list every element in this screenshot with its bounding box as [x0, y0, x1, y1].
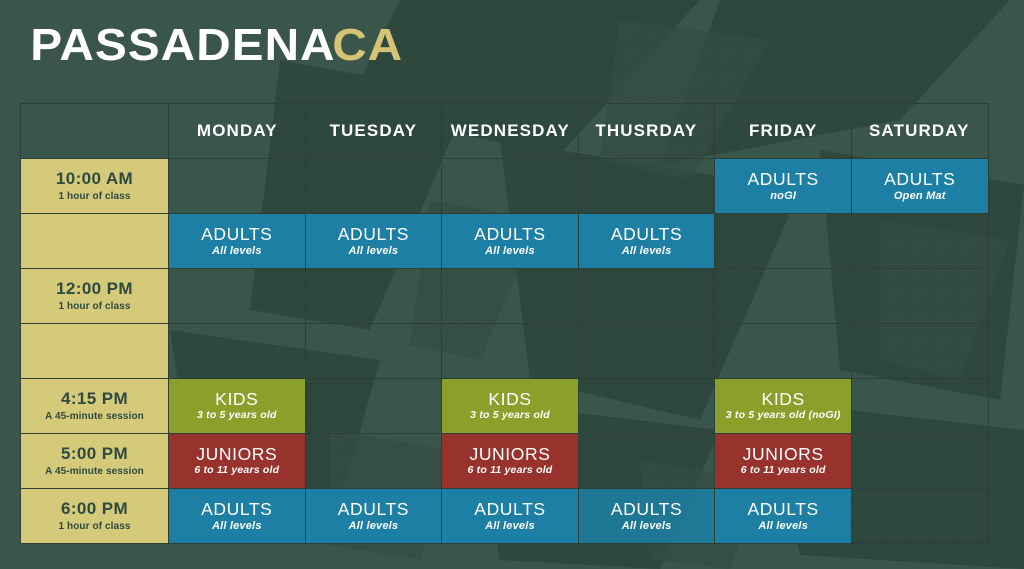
- title-city: PASSADENA: [30, 22, 336, 67]
- time-slot-duration: A 45-minute session: [21, 411, 168, 422]
- schedule-cell-empty: [169, 324, 306, 379]
- time-slot-cell: 10:00 AM1 hour of class: [21, 159, 169, 214]
- schedule-page: PASSADENA CA MONDAY TUESDAY WEDNESDAY TH…: [0, 0, 1024, 569]
- class-detail: All levels: [442, 520, 578, 532]
- schedule-cell-empty: [851, 269, 988, 324]
- class-detail: All levels: [306, 245, 442, 257]
- schedule-cell-empty: [305, 324, 442, 379]
- class-detail: All levels: [579, 520, 715, 532]
- time-slot-duration: 1 hour of class: [21, 521, 168, 532]
- table-row: 10:00 AM1 hour of classADULTSnoGIADULTSO…: [21, 159, 989, 214]
- schedule-cell-empty: [578, 269, 715, 324]
- class-name: ADULTS: [715, 500, 851, 519]
- day-header-tuesday: TUESDAY: [303, 104, 444, 159]
- time-slot-duration: 1 hour of class: [21, 191, 168, 202]
- schedule-cell-class[interactable]: ADULTSOpen Mat: [851, 159, 988, 214]
- time-slot-label: 6:00 PM: [21, 500, 168, 519]
- schedule-cell-class[interactable]: ADULTSAll levels: [442, 489, 579, 544]
- schedule-cell-empty: [715, 214, 852, 269]
- schedule-cell-empty: [305, 269, 442, 324]
- day-header-friday: FRIDAY: [713, 104, 854, 159]
- class-name: ADULTS: [715, 170, 851, 189]
- class-detail: 6 to 11 years old: [442, 465, 578, 477]
- class-detail: All levels: [306, 520, 442, 532]
- class-name: ADULTS: [579, 225, 715, 244]
- schedule-cell-class[interactable]: ADULTSnoGI: [715, 159, 852, 214]
- class-schedule-table: MONDAY TUESDAY WEDNESDAY THUSRDAY FRIDAY…: [20, 103, 989, 544]
- schedule-cell-class[interactable]: JUNIORS6 to 11 years old: [442, 434, 579, 489]
- time-slot-cell: [21, 324, 169, 379]
- time-slot-cell: 6:00 PM1 hour of class: [21, 489, 169, 544]
- day-header-monday: MONDAY: [166, 104, 307, 159]
- schedule-cell-class[interactable]: ADULTSAll levels: [578, 214, 715, 269]
- day-header-wednesday: WEDNESDAY: [440, 104, 581, 159]
- schedule-cell-class[interactable]: ADULTSAll levels: [715, 489, 852, 544]
- class-detail: 3 to 5 years old: [169, 410, 305, 422]
- table-header: MONDAY TUESDAY WEDNESDAY THUSRDAY FRIDAY…: [21, 104, 989, 159]
- time-slot-duration: A 45-minute session: [21, 466, 168, 477]
- schedule-cell-empty: [851, 434, 988, 489]
- class-detail: 3 to 5 years old (noGI): [715, 410, 851, 422]
- class-detail: noGI: [715, 190, 851, 202]
- schedule-cell-empty: [169, 269, 306, 324]
- class-name: JUNIORS: [715, 445, 851, 464]
- class-name: JUNIORS: [442, 445, 578, 464]
- class-name: JUNIORS: [169, 445, 305, 464]
- class-name: ADULTS: [169, 225, 305, 244]
- schedule-cell-empty: [851, 379, 988, 434]
- class-detail: 3 to 5 years old: [442, 410, 578, 422]
- table-row: 4:15 PMA 45-minute sessionKIDS3 to 5 yea…: [21, 379, 989, 434]
- schedule-cell-class[interactable]: KIDS3 to 5 years old (noGI): [715, 379, 852, 434]
- table-body: 10:00 AM1 hour of classADULTSnoGIADULTSO…: [21, 159, 989, 544]
- schedule-cell-class[interactable]: KIDS3 to 5 years old: [442, 379, 579, 434]
- schedule-cell-empty: [305, 379, 442, 434]
- class-name: ADULTS: [442, 225, 578, 244]
- title-state: CA: [332, 22, 403, 67]
- class-name: ADULTS: [306, 500, 442, 519]
- time-slot-cell: 12:00 PM1 hour of class: [21, 269, 169, 324]
- class-name: ADULTS: [169, 500, 305, 519]
- time-slot-cell: 5:00 PMA 45-minute session: [21, 434, 169, 489]
- table-row: 6:00 PM1 hour of classADULTSAll levelsAD…: [21, 489, 989, 544]
- time-slot-duration: 1 hour of class: [21, 301, 168, 312]
- table-row: 5:00 PMA 45-minute sessionJUNIORS6 to 11…: [21, 434, 989, 489]
- schedule-cell-class[interactable]: JUNIORS6 to 11 years old: [715, 434, 852, 489]
- class-name: ADULTS: [579, 500, 715, 519]
- table-row: [21, 324, 989, 379]
- schedule-cell-class[interactable]: ADULTSAll levels: [442, 214, 579, 269]
- time-slot-label: 5:00 PM: [21, 445, 168, 464]
- schedule-cell-empty: [578, 159, 715, 214]
- class-detail: All levels: [169, 245, 305, 257]
- schedule-cell-empty: [305, 434, 442, 489]
- class-detail: Open Mat: [852, 190, 988, 202]
- day-header-saturday: SATURDAY: [849, 104, 990, 159]
- time-slot-label: 4:15 PM: [21, 390, 168, 409]
- schedule-cell-empty: [715, 269, 852, 324]
- class-name: ADULTS: [306, 225, 442, 244]
- class-detail: 6 to 11 years old: [169, 465, 305, 477]
- class-detail: All levels: [715, 520, 851, 532]
- schedule-cell-class[interactable]: KIDS3 to 5 years old: [169, 379, 306, 434]
- table-row: ADULTSAll levelsADULTSAll levelsADULTSAl…: [21, 214, 989, 269]
- schedule-cell-class[interactable]: ADULTSAll levels: [305, 214, 442, 269]
- time-slot-label: 10:00 AM: [21, 170, 168, 189]
- class-name: ADULTS: [442, 500, 578, 519]
- page-title: PASSADENA CA: [30, 22, 399, 67]
- time-slot-cell: 4:15 PMA 45-minute session: [21, 379, 169, 434]
- class-detail: All levels: [442, 245, 578, 257]
- schedule-cell-empty: [578, 434, 715, 489]
- schedule-cell-empty: [169, 159, 306, 214]
- day-header-thursday: THUSRDAY: [576, 104, 717, 159]
- schedule-cell-empty: [442, 269, 579, 324]
- schedule-cell-empty: [851, 489, 988, 544]
- class-name: ADULTS: [852, 170, 988, 189]
- time-slot-label: 12:00 PM: [21, 280, 168, 299]
- schedule-cell-empty: [305, 159, 442, 214]
- class-name: KIDS: [442, 390, 578, 409]
- schedule-cell-empty: [442, 324, 579, 379]
- class-name: KIDS: [169, 390, 305, 409]
- corner-cell: [21, 104, 169, 159]
- class-detail: All levels: [169, 520, 305, 532]
- schedule-cell-class[interactable]: JUNIORS6 to 11 years old: [169, 434, 306, 489]
- schedule-cell-class[interactable]: ADULTSAll levels: [305, 489, 442, 544]
- class-name: KIDS: [715, 390, 851, 409]
- class-detail: All levels: [579, 245, 715, 257]
- schedule-cell-empty: [851, 324, 988, 379]
- schedule-cell-empty: [578, 379, 715, 434]
- class-detail: 6 to 11 years old: [715, 465, 851, 477]
- schedule-cell-class[interactable]: ADULTSAll levels: [578, 489, 715, 544]
- schedule-cell-empty: [851, 214, 988, 269]
- schedule-cell-class[interactable]: ADULTSAll levels: [169, 489, 306, 544]
- schedule-cell-empty: [715, 324, 852, 379]
- schedule-cell-class[interactable]: ADULTSAll levels: [169, 214, 306, 269]
- time-slot-cell: [21, 214, 169, 269]
- schedule-cell-empty: [442, 159, 579, 214]
- header-row: MONDAY TUESDAY WEDNESDAY THUSRDAY FRIDAY…: [21, 104, 989, 159]
- schedule-cell-empty: [578, 324, 715, 379]
- table-row: 12:00 PM1 hour of class: [21, 269, 989, 324]
